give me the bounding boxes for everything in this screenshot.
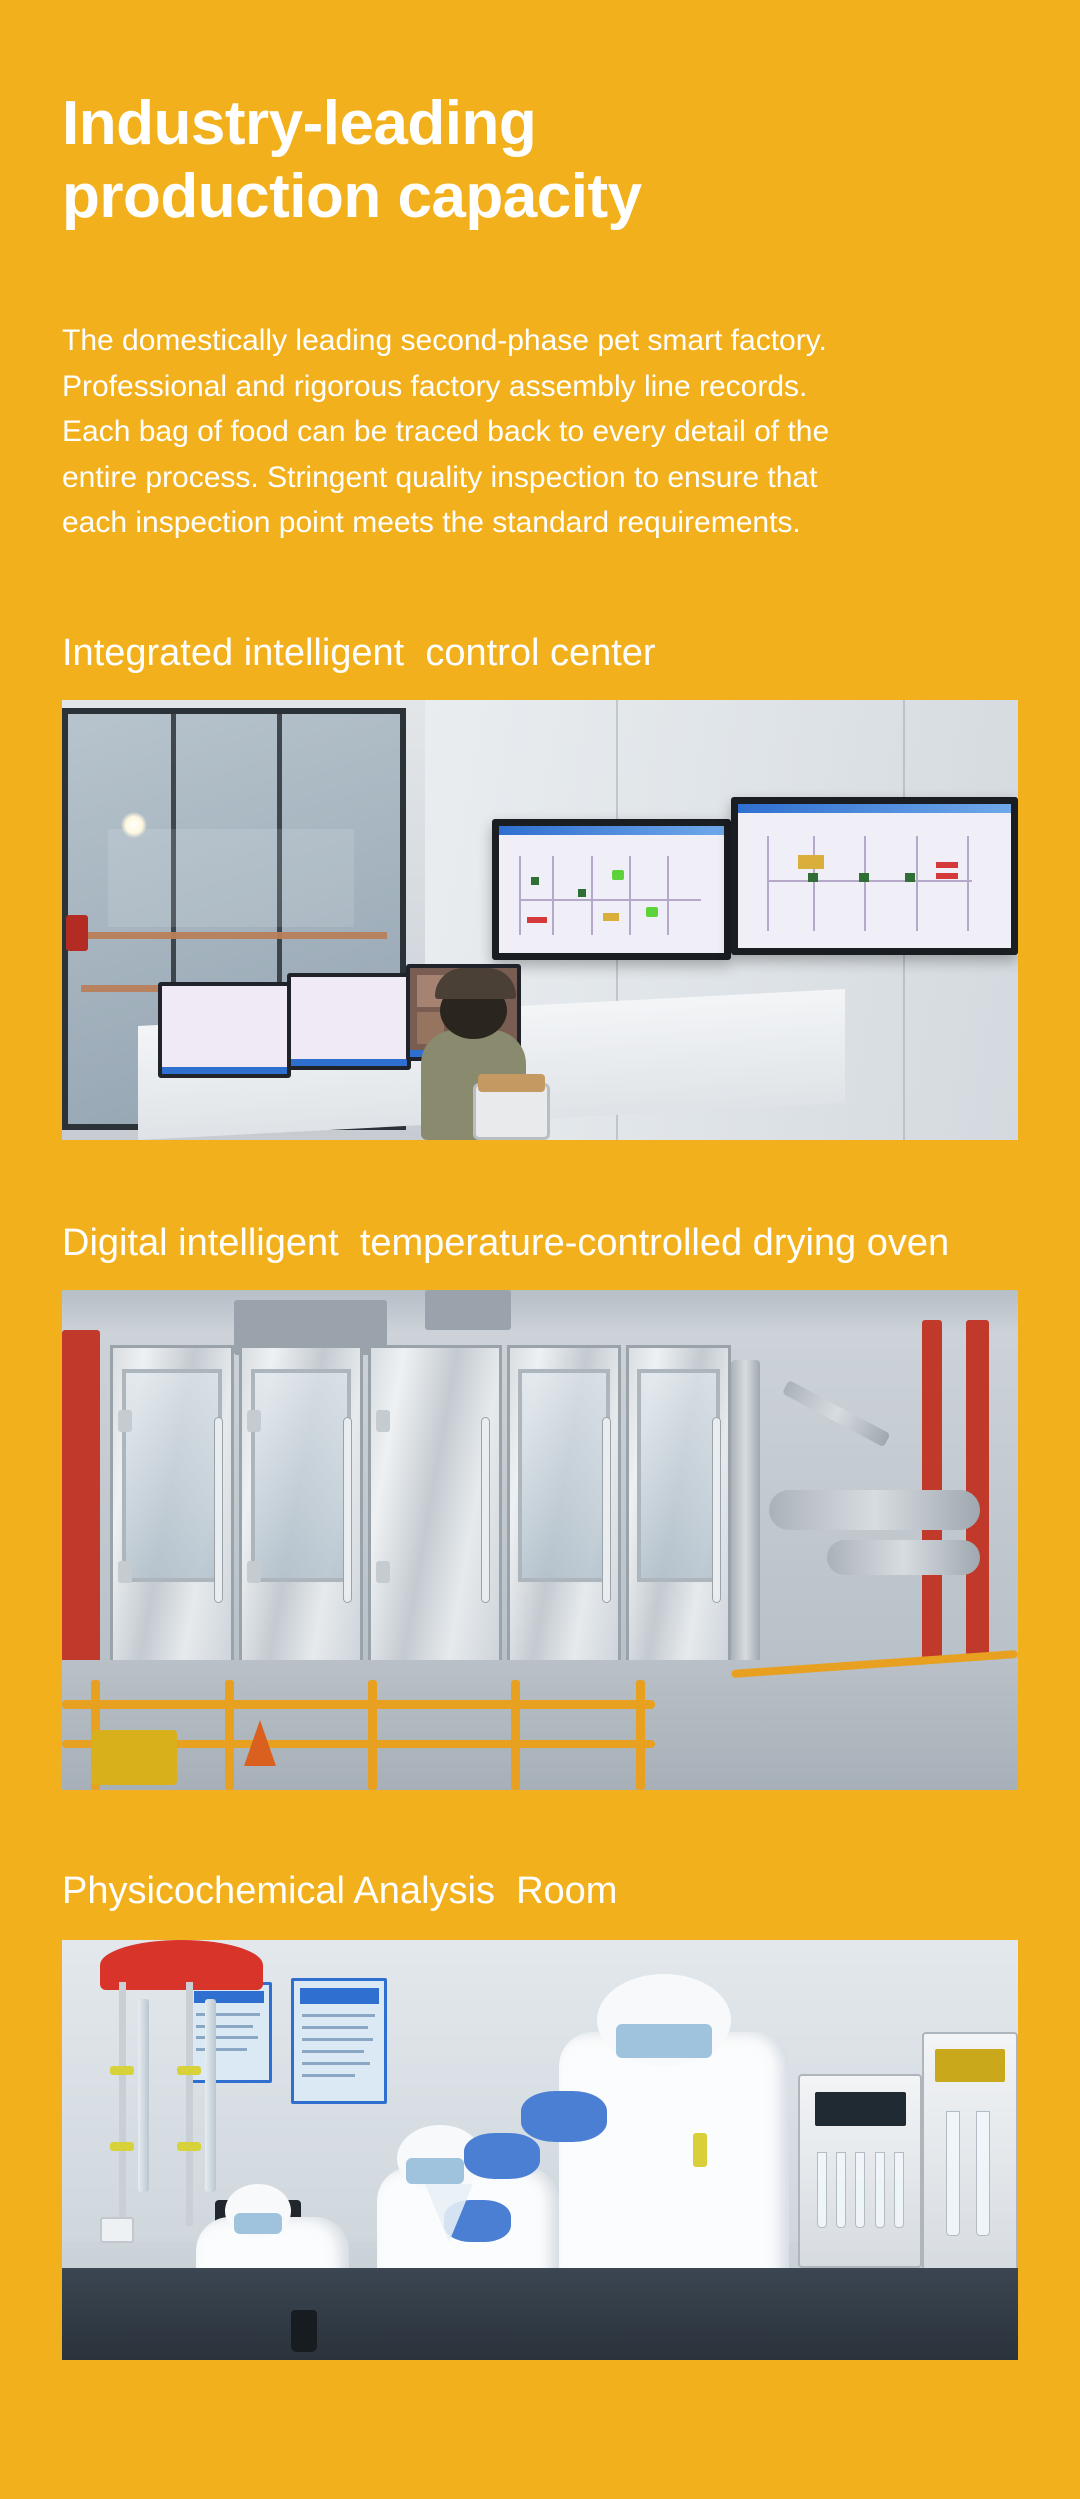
burette [205,1999,216,2192]
lab-instrument [922,2032,1018,2276]
scada-diagram [746,827,1002,943]
control-center-photo [62,700,1018,1140]
safety-railing [62,1700,655,1709]
steel-duct [827,1540,980,1575]
chair-backrest [478,1074,545,1092]
glove [521,2091,607,2141]
oven-handle [602,1417,611,1603]
operator-monitor-2 [287,973,411,1070]
oven-chamber [110,1345,234,1695]
oven-window [637,1369,720,1582]
display-titlebar [738,804,1011,813]
traffic-cone [244,1720,276,1766]
oven-hinge [247,1561,261,1583]
equipment-rail [81,932,387,939]
oven-chamber [368,1345,502,1695]
red-pipe [62,1330,100,1670]
physicochemical-analysis-room-photo [62,1940,1018,2360]
steel-duct [769,1490,979,1530]
page-title: Industry-leading production capacity [62,88,962,233]
section-heading-drying-oven: Digital intelligent temperature-controll… [62,1224,949,1262]
wall-socket [100,2217,134,2243]
face-mask [234,2213,282,2234]
glove [464,2133,540,2179]
wall-display-left [492,819,731,960]
oven-hinge [376,1410,390,1432]
wall-poster [291,1978,387,2104]
oven-chamber [239,1345,363,1695]
drying-oven-photo [62,1290,1018,1790]
promotional-page: Industry-leading production capacity The… [0,0,1080,2499]
conical-flask [425,2184,473,2242]
oven-handle [343,1417,352,1603]
display-titlebar [499,826,724,835]
badge [693,2133,707,2167]
face-mask [616,2024,712,2058]
section-heading-analysis-room: Physicochemical Analysis Room [62,1872,617,1910]
oven-handle [712,1417,721,1603]
page-description: The domestically leading second-phase pe… [62,318,1002,546]
lab-instrument [798,2074,922,2267]
oven-window [518,1369,609,1582]
steel-pipe [731,1360,760,1670]
section-heading-control-center: Integrated intelligent control center [62,634,656,672]
lab-bench [62,2268,1018,2360]
reagent-bottle [291,2310,317,2352]
oven-hinge [376,1561,390,1583]
steel-duct [782,1380,890,1447]
operator-monitor-1 [158,982,292,1079]
operator-cap [435,968,516,999]
scada-diagram [506,846,718,947]
oven-window [251,1369,350,1582]
oven-chamber [507,1345,622,1695]
railing-post [636,1680,645,1790]
oven-handle [214,1417,223,1603]
railing-post [511,1680,520,1790]
lab-stand [119,1982,126,2226]
oven-handle [481,1417,490,1603]
fire-extinguisher [66,915,88,951]
air-duct [425,1290,511,1330]
oven-hinge [118,1410,132,1432]
railing-post [225,1680,234,1790]
oven-hinge [247,1410,261,1432]
burette-clamp [177,2142,201,2151]
face-mask [406,2158,463,2183]
oven-hinge [118,1561,132,1583]
oven-window [122,1369,221,1582]
burette [138,1999,149,2192]
burette-clamp [110,2142,134,2151]
factory-floor [62,1660,1018,1790]
oven-chamber [626,1345,731,1695]
yellow-drum [91,1730,177,1785]
wall-display-right [731,797,1018,955]
ceiling [62,1290,1018,1335]
lab-stand [186,1982,193,2226]
burette-clamp [110,2066,134,2075]
burette-clamp [177,2066,201,2075]
railing-post [368,1680,377,1790]
machine-silhouette [108,829,354,927]
